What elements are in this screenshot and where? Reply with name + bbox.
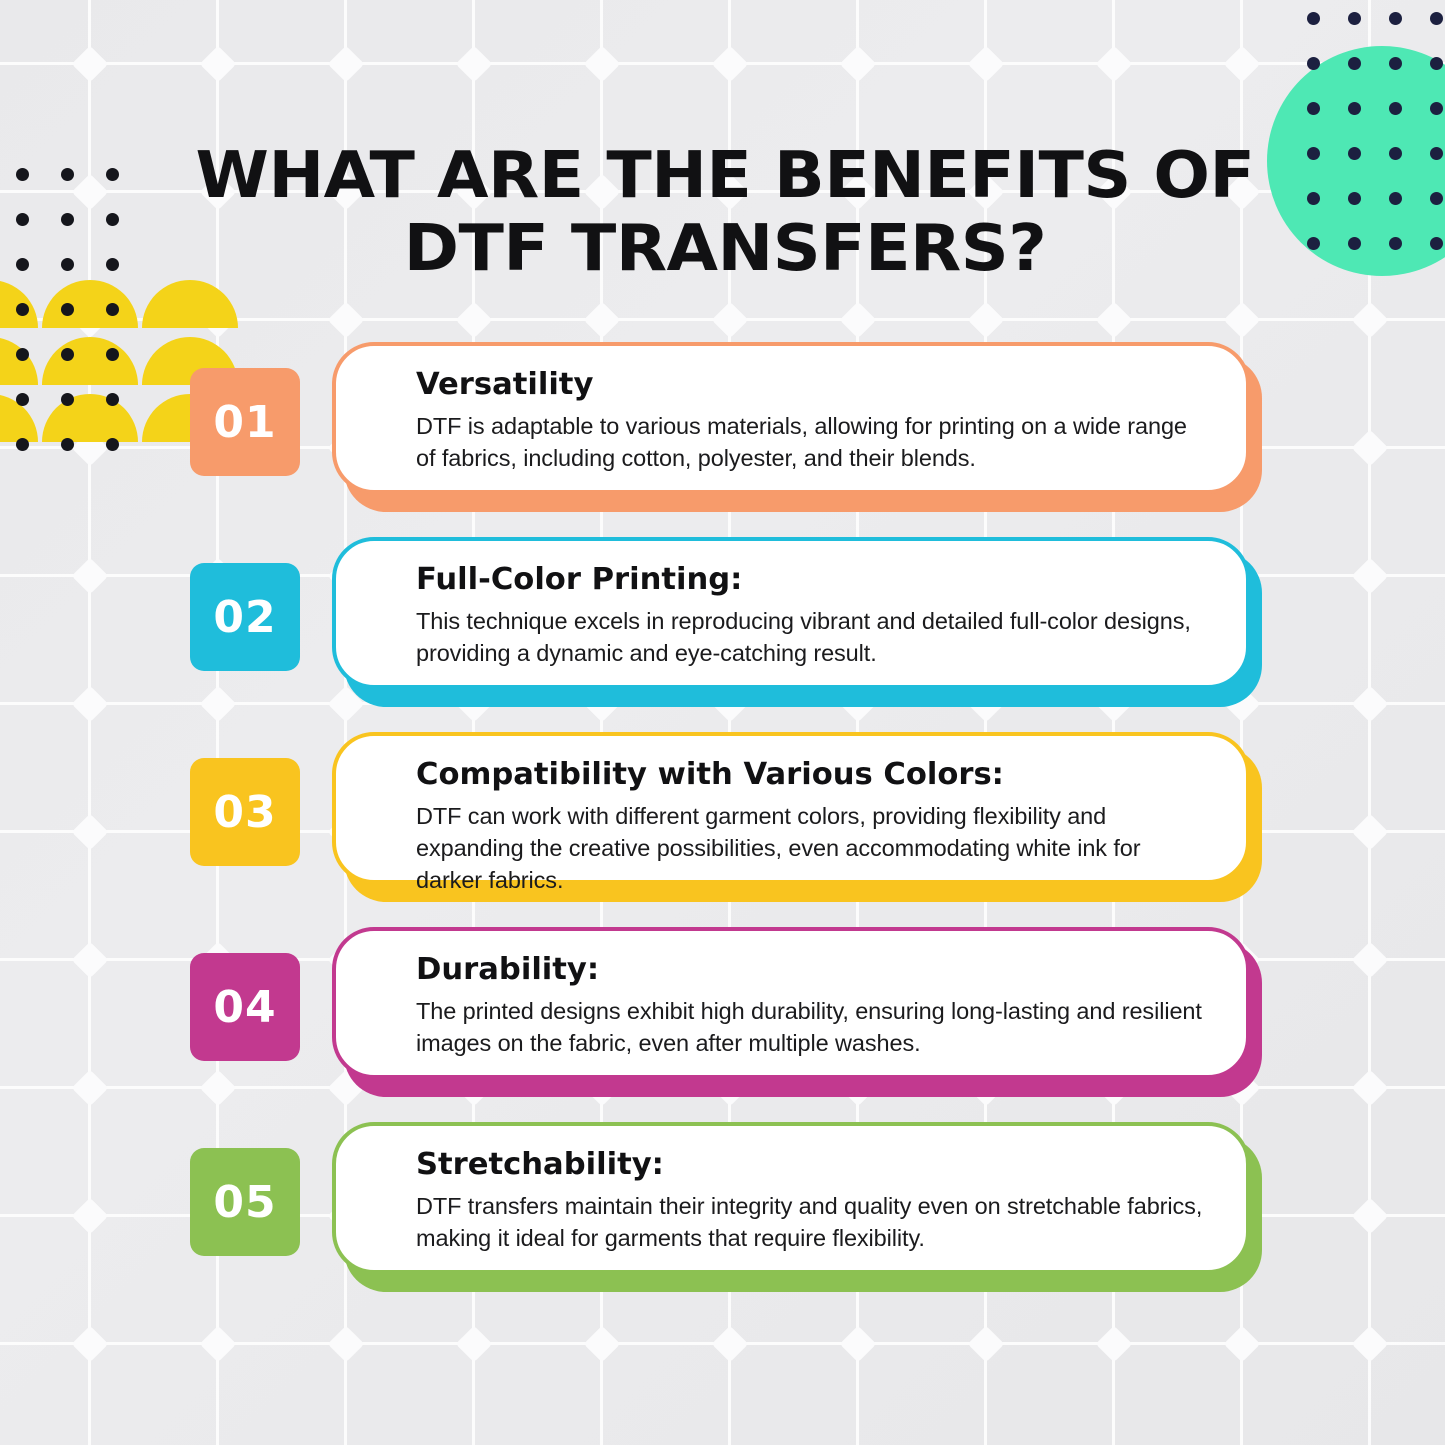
page-title: WHAT ARE THE BENEFITS OF DTF TRANSFERS? — [158, 140, 1292, 286]
benefit-row: 05Stretchability:DTF transfers maintain … — [0, 1122, 1445, 1317]
benefit-description: This technique excels in reproducing vib… — [416, 605, 1212, 669]
benefit-number-badge[interactable]: 03 — [190, 758, 300, 866]
benefit-description: DTF can work with different garment colo… — [416, 800, 1212, 897]
card-surface: Stretchability:DTF transfers maintain th… — [332, 1122, 1250, 1274]
benefit-card[interactable]: Compatibility with Various Colors:DTF ca… — [332, 732, 1262, 902]
benefit-row: 02Full-Color Printing:This technique exc… — [0, 537, 1445, 732]
card-surface: Compatibility with Various Colors:DTF ca… — [332, 732, 1250, 884]
benefit-number-badge[interactable]: 04 — [190, 953, 300, 1061]
benefit-card[interactable]: Full-Color Printing:This technique excel… — [332, 537, 1262, 707]
benefit-title: Stretchability: — [416, 1148, 1228, 1181]
benefit-title: Versatility — [416, 368, 1228, 401]
benefit-card[interactable]: Stretchability:DTF transfers maintain th… — [332, 1122, 1262, 1292]
benefit-description: DTF is adaptable to various materials, a… — [416, 410, 1212, 474]
card-surface: Full-Color Printing:This technique excel… — [332, 537, 1250, 689]
benefit-row: 04Durability:The printed designs exhibit… — [0, 927, 1445, 1122]
card-surface: Durability:The printed designs exhibit h… — [332, 927, 1250, 1079]
card-surface: VersatilityDTF is adaptable to various m… — [332, 342, 1250, 494]
benefit-row: 01VersatilityDTF is adaptable to various… — [0, 342, 1445, 537]
benefits-list: 01VersatilityDTF is adaptable to various… — [0, 342, 1445, 1317]
benefit-title: Durability: — [416, 953, 1228, 986]
benefit-title: Compatibility with Various Colors: — [416, 758, 1228, 791]
benefit-row: 03Compatibility with Various Colors:DTF … — [0, 732, 1445, 927]
benefit-card[interactable]: Durability:The printed designs exhibit h… — [332, 927, 1262, 1097]
benefit-description: The printed designs exhibit high durabil… — [416, 995, 1212, 1059]
benefit-title: Full-Color Printing: — [416, 563, 1228, 596]
benefit-number-badge[interactable]: 05 — [190, 1148, 300, 1256]
benefit-number-badge[interactable]: 01 — [190, 368, 300, 476]
benefit-description: DTF transfers maintain their integrity a… — [416, 1190, 1212, 1254]
benefit-number-badge[interactable]: 02 — [190, 563, 300, 671]
benefit-card[interactable]: VersatilityDTF is adaptable to various m… — [332, 342, 1262, 512]
